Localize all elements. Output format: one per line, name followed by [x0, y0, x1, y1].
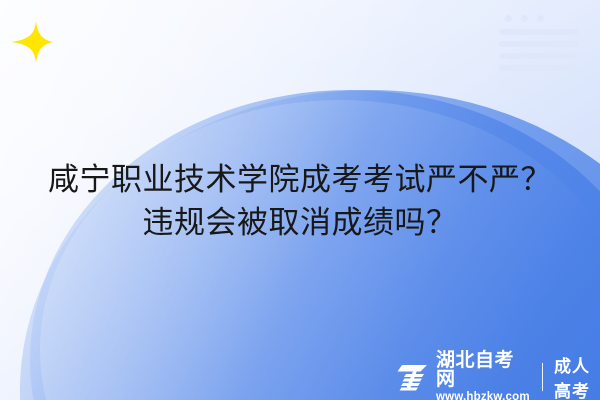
document-dot-2: [521, 15, 528, 22]
document-dots-row: [505, 15, 585, 22]
document-lines-group: [497, 29, 585, 71]
brand-divider: [542, 363, 543, 391]
banner-headline: 咸宁职业技术学院成考考试严不严？ 违规会被取消成绩吗？: [0, 158, 600, 244]
brand-wordmark: 湖北自考网 www.hbzkw.com: [436, 351, 530, 400]
document-line-3: [499, 53, 579, 59]
brand-lockup: 湖北自考网 www.hbzkw.com 成人高考: [396, 358, 600, 396]
sparkle-icon: [8, 18, 56, 66]
brand-url: www.hbzkw.com: [436, 392, 530, 400]
document-line-4: [499, 65, 579, 71]
document-line-1: [499, 29, 579, 35]
brand-tagline: 成人高考: [554, 352, 600, 400]
document-dot-1: [505, 15, 512, 22]
promo-banner: 咸宁职业技术学院成考考试严不严？ 违规会被取消成绩吗？ 湖北自考网 www.hb…: [0, 0, 600, 400]
brand-name-cn: 湖北自考网: [436, 351, 530, 389]
document-line-2: [499, 41, 579, 47]
document-dot-3: [537, 15, 544, 22]
document-lines-decoration: [497, 8, 585, 66]
hbzkw-logo-mark-icon: [396, 362, 430, 392]
